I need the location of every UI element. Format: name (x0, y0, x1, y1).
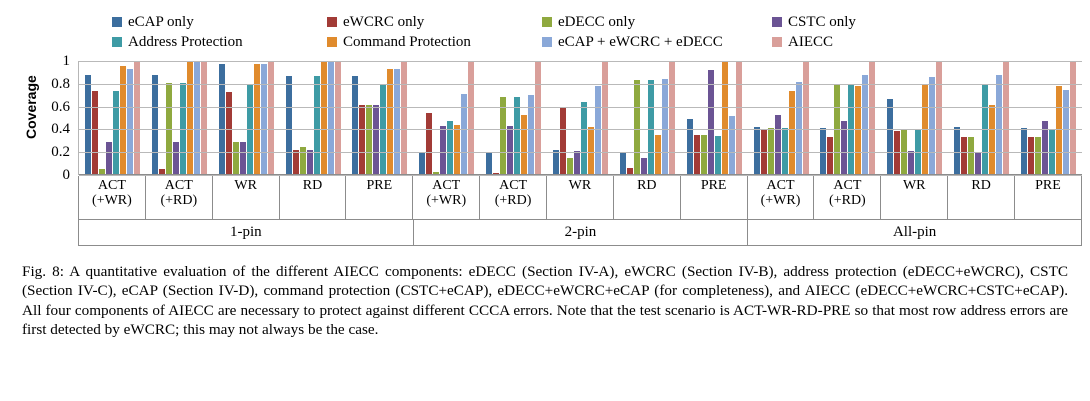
bar[interactable] (113, 91, 119, 175)
category-label-line1: ACT (833, 178, 861, 193)
category-label-line1: PRE (1035, 178, 1061, 193)
bar[interactable] (929, 77, 935, 175)
category-label-line1: ACT (98, 178, 126, 193)
bar[interactable] (602, 61, 608, 175)
bar[interactable] (426, 113, 432, 175)
bar[interactable] (588, 127, 594, 175)
legend-swatch-icon (772, 17, 782, 27)
bar-group (547, 61, 614, 175)
y-axis-tick-label: 0 (63, 169, 71, 181)
category-label-line1: RD (637, 178, 656, 193)
bar[interactable] (662, 79, 668, 175)
category-label-line1: ACT (165, 178, 193, 193)
bar[interactable] (233, 142, 239, 175)
category-label-line1: ACT (499, 178, 527, 193)
category-label-line2: (+RD) (495, 193, 532, 208)
category-tick: ACT(+RD) (479, 176, 546, 220)
bar-group (280, 61, 347, 175)
bar[interactable] (996, 75, 1002, 175)
chart-legend: eCAP onlyeWCRC onlyeDECC onlyCSTC onlyAd… (112, 12, 1072, 52)
category-tick: PRE (1014, 176, 1082, 220)
bar-group (413, 61, 480, 175)
gridline (79, 84, 1082, 85)
bar-group (79, 61, 146, 175)
bar[interactable] (655, 135, 661, 175)
legend-item[interactable]: AIECC (772, 35, 952, 50)
y-axis-tick-label: 1 (63, 55, 71, 67)
legend-swatch-icon (542, 37, 552, 47)
bar[interactable] (729, 116, 735, 175)
bar[interactable] (775, 115, 781, 175)
bar-group (614, 61, 681, 175)
bar[interactable] (669, 61, 675, 175)
category-tick: RD (947, 176, 1014, 220)
category-label-line1: WR (569, 178, 592, 193)
bar-group (213, 61, 280, 175)
y-axis-tick-label: 0.8 (51, 78, 70, 90)
bar[interactable] (335, 61, 341, 175)
legend-swatch-icon (327, 17, 337, 27)
bar[interactable] (286, 76, 292, 175)
group-label: 1-pin (78, 220, 413, 246)
category-tick: ACT(+WR) (412, 176, 479, 220)
bar[interactable] (514, 97, 520, 175)
legend-item[interactable]: eDECC only (542, 15, 772, 30)
bar[interactable] (648, 80, 654, 175)
legend-label: Address Protection (128, 35, 243, 50)
figure-container: eCAP onlyeWCRC onlyeDECC onlyCSTC onlyAd… (0, 0, 1090, 401)
bar[interactable] (373, 105, 379, 175)
bar[interactable] (736, 61, 742, 175)
category-tick: PRE (345, 176, 412, 220)
category-tick: RD (279, 176, 346, 220)
gridline (79, 61, 1082, 62)
legend-swatch-icon (542, 17, 552, 27)
gridline (79, 107, 1082, 108)
plot-area (78, 61, 1082, 175)
bar[interactable] (634, 80, 640, 175)
bar[interactable] (314, 76, 320, 175)
figure-caption: Fig. 8: A quantitative evaluation of the… (22, 262, 1068, 340)
category-label-line1: WR (903, 178, 926, 193)
bar[interactable] (620, 152, 626, 175)
category-tick: ACT(+RD) (813, 176, 880, 220)
category-label-line1: RD (971, 178, 990, 193)
bar[interactable] (887, 99, 893, 175)
y-axis-ticks: 00.20.40.60.81 (44, 55, 70, 181)
bar[interactable] (796, 82, 802, 175)
bar[interactable] (387, 69, 393, 175)
bar[interactable] (961, 137, 967, 175)
legend-label: eCAP + eWCRC + eDECC (558, 35, 723, 50)
bar[interactable] (401, 61, 407, 175)
bar[interactable] (574, 151, 580, 175)
bar[interactable] (869, 61, 875, 175)
bar[interactable] (92, 91, 98, 175)
legend-label: AIECC (788, 35, 833, 50)
bar[interactable] (1056, 86, 1062, 175)
y-axis-tick-label: 0.4 (51, 123, 70, 135)
bar[interactable] (535, 61, 541, 175)
gridline (79, 129, 1082, 130)
legend-item[interactable]: eCAP + eWCRC + eDECC (542, 35, 772, 50)
bar[interactable] (173, 142, 179, 175)
bar[interactable] (715, 136, 721, 175)
bar[interactable] (152, 75, 158, 175)
bar[interactable] (694, 135, 700, 175)
bar[interactable] (219, 64, 225, 175)
bar[interactable] (240, 142, 246, 175)
bar[interactable] (352, 76, 358, 175)
bar[interactable] (268, 61, 274, 175)
bar[interactable] (127, 69, 133, 175)
bar[interactable] (419, 152, 425, 175)
bar[interactable] (708, 70, 714, 175)
category-label-line1: RD (303, 178, 322, 193)
bar[interactable] (440, 126, 446, 175)
category-tick: RD (613, 176, 680, 220)
bar[interactable] (500, 97, 506, 175)
bar[interactable] (254, 64, 260, 175)
bar-group (480, 61, 547, 175)
legend-swatch-icon (112, 37, 122, 47)
category-tick: ACT(+WR) (747, 176, 814, 220)
category-tick: ACT(+RD) (145, 176, 212, 220)
bar-group (881, 61, 948, 175)
bar[interactable] (553, 150, 559, 175)
legend-label: CSTC only (788, 15, 856, 30)
legend-swatch-icon (772, 37, 782, 47)
bar[interactable] (954, 127, 960, 175)
bar[interactable] (300, 147, 306, 176)
bar[interactable] (595, 86, 601, 175)
category-tick: WR (546, 176, 613, 220)
category-label-line1: PRE (367, 178, 393, 193)
group-label: 2-pin (413, 220, 748, 246)
bar[interactable] (975, 152, 981, 175)
bar[interactable] (106, 142, 112, 175)
bar[interactable] (521, 115, 527, 175)
gridline (79, 152, 1082, 153)
bar[interactable] (908, 151, 914, 175)
bar[interactable] (567, 158, 573, 175)
bar[interactable] (1070, 61, 1076, 175)
bar-group (948, 61, 1015, 175)
legend-item[interactable]: eCAP only (112, 15, 327, 30)
bar[interactable] (85, 75, 91, 175)
legend-label: Command Protection (343, 35, 471, 50)
bar[interactable] (486, 153, 492, 175)
bar[interactable] (194, 61, 200, 175)
bar[interactable] (1028, 137, 1034, 175)
bar-group (1015, 61, 1082, 175)
bar[interactable] (507, 126, 513, 175)
bar[interactable] (201, 61, 207, 175)
bar[interactable] (722, 62, 728, 175)
legend-item[interactable]: Address Protection (112, 35, 327, 50)
group-label: All-pin (747, 220, 1082, 246)
bar[interactable] (468, 61, 474, 175)
bar[interactable] (366, 105, 372, 175)
y-axis-label: Coverage (22, 62, 40, 152)
bar[interactable] (701, 135, 707, 175)
bar[interactable] (293, 150, 299, 175)
bar[interactable] (803, 61, 809, 175)
bar[interactable] (936, 61, 942, 175)
category-label-line1: WR (234, 178, 257, 193)
category-tick: WR (880, 176, 947, 220)
legend-label: eDECC only (558, 15, 635, 30)
category-label-line1: ACT (767, 178, 795, 193)
bar[interactable] (687, 119, 693, 175)
bar[interactable] (968, 137, 974, 175)
bar[interactable] (394, 69, 400, 175)
bar[interactable] (855, 86, 861, 175)
legend-label: eWCRC only (343, 15, 424, 30)
bar[interactable] (321, 61, 327, 175)
category-label-line1: PRE (701, 178, 727, 193)
bar[interactable] (328, 61, 334, 175)
category-label-line2: (+WR) (761, 193, 801, 208)
category-label-line2: (+WR) (92, 193, 132, 208)
category-tick: WR (212, 176, 279, 220)
category-tick: ACT(+WR) (78, 176, 145, 220)
bar[interactable] (754, 127, 760, 175)
legend-label: eCAP only (128, 15, 194, 30)
legend-item[interactable]: eWCRC only (327, 15, 542, 30)
category-label-line2: (+RD) (160, 193, 197, 208)
bar-group (346, 61, 413, 175)
bar[interactable] (560, 107, 566, 175)
bar[interactable] (641, 158, 647, 175)
bar-group (146, 61, 213, 175)
bar[interactable] (989, 105, 995, 175)
bar[interactable] (120, 66, 126, 175)
bar[interactable] (307, 150, 313, 175)
bar[interactable] (359, 105, 365, 175)
bar-groups (79, 61, 1082, 175)
legend-swatch-icon (327, 37, 337, 47)
bar[interactable] (1063, 90, 1069, 176)
category-tick: PRE (680, 176, 747, 220)
bar[interactable] (226, 92, 232, 175)
bar[interactable] (1035, 137, 1041, 175)
bar[interactable] (134, 61, 140, 175)
legend-swatch-icon (112, 17, 122, 27)
bar-group (814, 61, 881, 175)
bar[interactable] (827, 137, 833, 175)
bar[interactable] (454, 125, 460, 175)
bar[interactable] (1003, 61, 1009, 175)
group-axis: 1-pin2-pinAll-pin (78, 220, 1082, 246)
bar-group (681, 61, 748, 175)
category-axis: ACT(+WR)ACT(+RD)WRRDPREACT(+WR)ACT(+RD)W… (78, 176, 1082, 220)
category-label-line1: ACT (432, 178, 460, 193)
category-label-line2: (+RD) (829, 193, 866, 208)
bar[interactable] (187, 61, 193, 175)
bar[interactable] (862, 75, 868, 175)
y-axis-tick-label: 0.6 (51, 101, 70, 113)
bar[interactable] (789, 91, 795, 175)
legend-item[interactable]: Command Protection (327, 35, 542, 50)
bar[interactable] (581, 102, 587, 175)
bar[interactable] (261, 64, 267, 175)
category-label-line2: (+WR) (426, 193, 466, 208)
bar-group (748, 61, 815, 175)
y-axis-tick-label: 0.2 (51, 146, 70, 158)
legend-item[interactable]: CSTC only (772, 15, 952, 30)
